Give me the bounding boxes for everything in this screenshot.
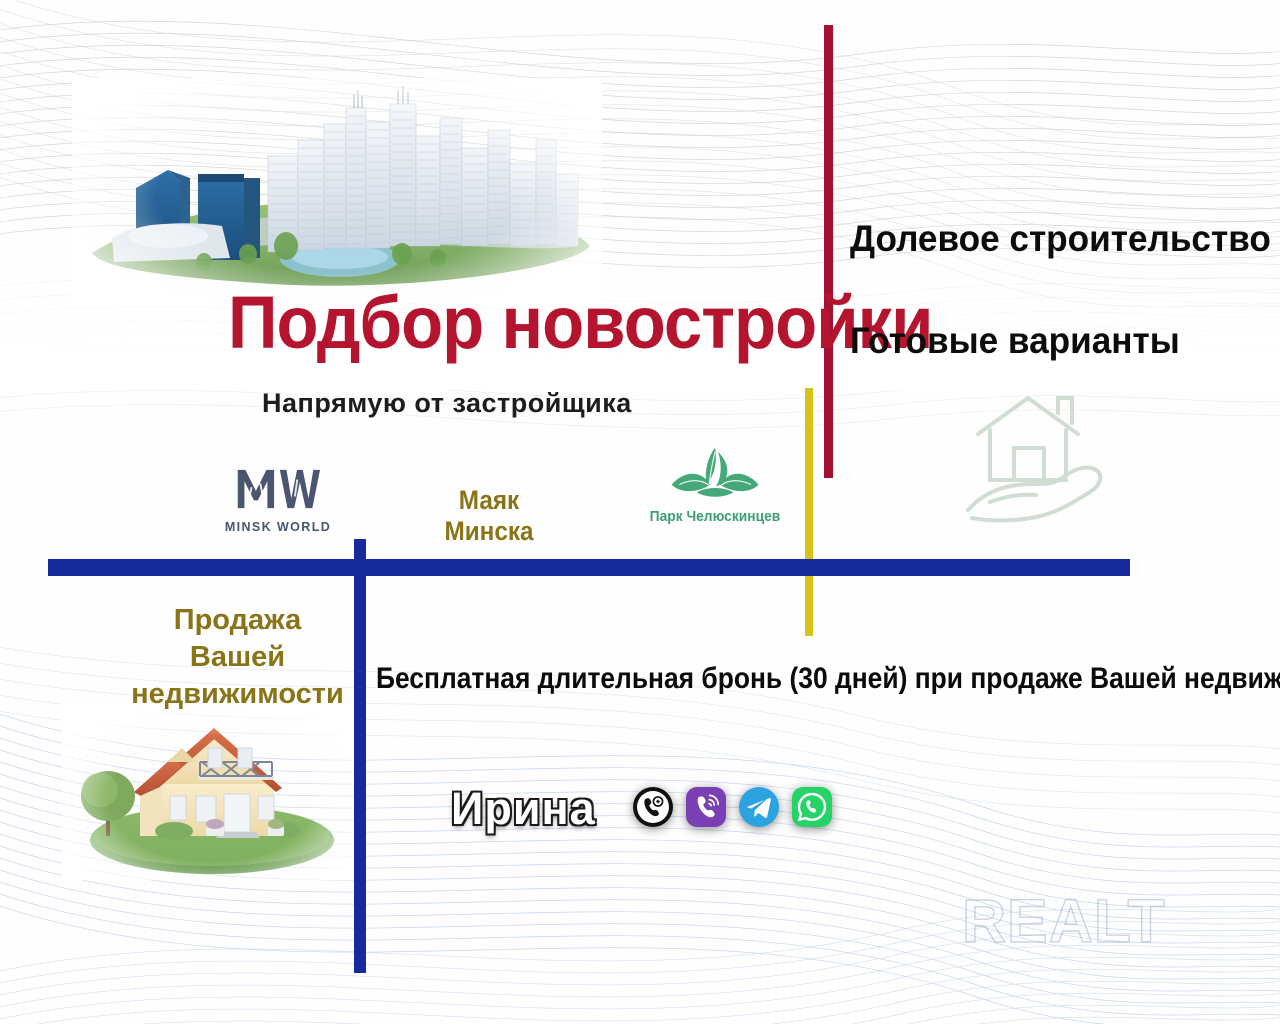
viber-icon[interactable] [685,786,727,828]
logo-minsk-world-label: MINSK WORLD [213,520,343,534]
whatsapp-icon[interactable] [791,786,833,828]
logo-park-chelyuskintsev: Парк Челюскинцев [637,446,793,526]
promo-free-booking-text: Бесплатная длительная бронь (30 дней) пр… [376,662,1280,696]
telegram-icon[interactable] [738,786,780,828]
logo-mayak-minska-label: Маяк Минска [413,485,566,547]
city-skyline-image [72,78,602,303]
logo-minsk-world: MINSK WORLD [213,466,343,534]
sell-property-heading: Продажа Вашей недвижимости [130,602,345,713]
cottage-house-image [62,700,362,880]
feature-ready-options: Готовые варианты [850,320,1180,362]
divider-bar-blue-vertical [354,539,366,973]
logo-park-chelyuskintsev-label: Парк Челюскинцев [650,508,781,525]
page-title: Подбор новостройки [228,286,933,360]
feature-shared-construction: Долевое строительство [850,218,1271,260]
logo-mayak-minska: Маяк Минска [404,485,574,547]
contact-icons-row [632,786,833,828]
green-leaf-icon [662,446,768,502]
house-in-hand-icon [962,392,1112,527]
mw-monogram-icon [232,466,324,510]
phone-icon[interactable] [632,786,674,828]
agent-name: Ирина [451,783,596,835]
page-subtitle: Напрямую от застройщика [262,388,632,419]
divider-bar-yellow-vertical [805,388,813,636]
realt-watermark: REALT [962,886,1166,956]
poster-canvas: REALT [0,0,1280,1024]
divider-bar-blue-horizontal [48,559,1130,576]
divider-bar-red-vertical [824,25,833,478]
